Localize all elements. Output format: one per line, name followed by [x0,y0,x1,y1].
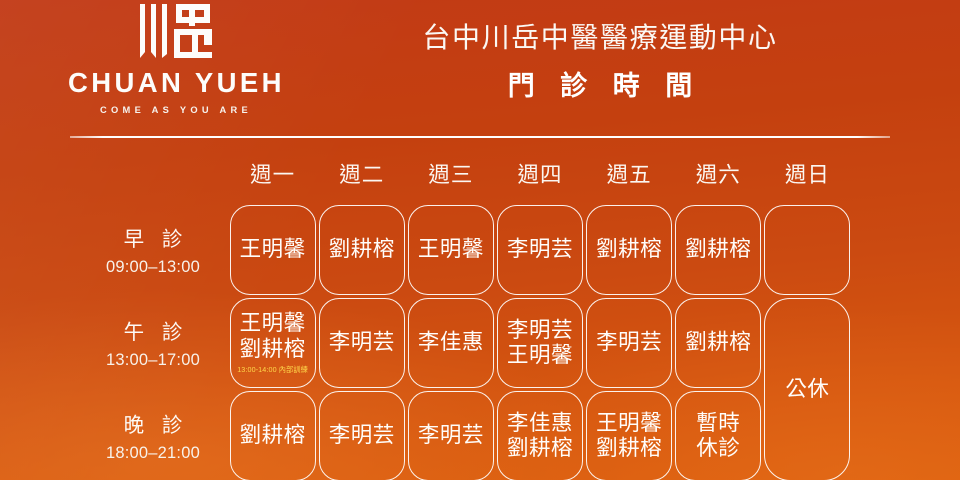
title-block: 台中川岳中醫醫療運動中心 門 診 時 間 [300,20,900,103]
cell-names: 王明馨 劉耕榕 [240,311,306,361]
cell-tue-afternoon[interactable]: 李明芸 [319,298,405,388]
day-header-friday: 週五 [585,154,674,196]
brand-logo: CHUAN YUEH COME AS YOU ARE [68,2,284,115]
cell-thu-morning[interactable]: 李明芸 [497,205,583,295]
cell-names: 李佳惠 劉耕榕 [507,411,573,461]
cell-names: 李明芸 [507,237,573,262]
cell-fri-evening[interactable]: 王明馨 劉耕榕 [586,391,672,480]
cell-names: 李明芸 王明馨 [507,318,573,368]
period-label-column: 早 診 09:00–13:00 午 診 13:00–17:00 晚 診 18:0… [86,205,220,480]
cell-names: 劉耕榕 [329,237,395,262]
cell-names: 王明馨 劉耕榕 [596,411,662,461]
schedule-grid: 早 診 09:00–13:00 午 診 13:00–17:00 晚 診 18:0… [0,205,960,480]
page-subtitle: 門 診 時 間 [300,64,900,103]
cell-mon-evening[interactable]: 劉耕榕 [230,391,316,480]
cell-fri-morning[interactable]: 劉耕榕 [586,205,672,295]
schedule-cells: 王明馨 劉耕榕 王明馨 李明芸 劉耕榕 劉耕榕 [228,205,852,480]
cell-names: 李明芸 [329,330,395,355]
cell-wed-morning[interactable]: 王明馨 [408,205,494,295]
day-header-saturday: 週六 [674,154,763,196]
cell-sun-morning-empty[interactable] [764,205,850,295]
day-header-sunday: 週日 [763,154,852,196]
period-morning-time: 09:00–13:00 [86,258,220,277]
cell-mon-morning[interactable]: 王明馨 [230,205,316,295]
cell-names: 劉耕榕 [685,237,751,262]
cell-names: 王明馨 [240,237,306,262]
cell-names: 劉耕榕 [596,237,662,262]
day-header-thursday: 週四 [495,154,584,196]
cell-names: 公休 [785,377,829,402]
cell-names: 李明芸 [329,423,395,448]
chuan-yueh-monogram-icon [68,2,284,65]
cell-sat-morning[interactable]: 劉耕榕 [675,205,761,295]
cell-sun-closed[interactable]: 公休 [764,298,850,480]
cell-thu-evening[interactable]: 李佳惠 劉耕榕 [497,391,583,480]
cell-names: 李明芸 [596,330,662,355]
period-evening: 晚 診 18:00–21:00 [86,415,220,463]
schedule-poster: CHUAN YUEH COME AS YOU ARE 台中川岳中醫醫療運動中心 … [0,0,960,480]
day-header-tuesday: 週二 [317,154,406,196]
cell-names: 暫時 休診 [696,411,740,461]
cell-names: 劉耕榕 [240,423,306,448]
cell-wed-evening[interactable]: 李明芸 [408,391,494,480]
period-evening-time: 18:00–21:00 [86,444,220,463]
cell-tue-evening[interactable]: 李明芸 [319,391,405,480]
day-header-monday: 週一 [228,154,317,196]
poster-header: CHUAN YUEH COME AS YOU ARE 台中川岳中醫醫療運動中心 … [0,0,960,137]
cell-fri-afternoon[interactable]: 李明芸 [586,298,672,388]
page-title: 台中川岳中醫醫療運動中心 [300,20,900,55]
period-afternoon: 午 診 13:00–17:00 [86,322,220,370]
schedule-table: 週一 週二 週三 週四 週五 週六 週日 早 診 09:00–13:00 午 診… [0,137,960,480]
cell-note-training: 13:00-14:00 內部訓練 [237,365,308,375]
day-header-row: 週一 週二 週三 週四 週五 週六 週日 [228,154,852,196]
day-header-wednesday: 週三 [406,154,495,196]
period-morning: 早 診 09:00–13:00 [86,229,220,277]
cell-wed-afternoon[interactable]: 李佳惠 [408,298,494,388]
period-morning-name: 早 診 [86,229,220,252]
cell-names: 李佳惠 [418,330,484,355]
cell-names: 劉耕榕 [685,330,751,355]
period-afternoon-time: 13:00–17:00 [86,351,220,370]
cell-tue-morning[interactable]: 劉耕榕 [319,205,405,295]
brand-tagline: COME AS YOU ARE [68,105,284,115]
period-afternoon-name: 午 診 [86,322,220,345]
cell-sat-afternoon[interactable]: 劉耕榕 [675,298,761,388]
period-evening-name: 晚 診 [86,415,220,438]
cell-mon-afternoon[interactable]: 王明馨 劉耕榕 13:00-14:00 內部訓練 [230,298,316,388]
cell-sat-evening[interactable]: 暫時 休診 [675,391,761,480]
cell-names: 李明芸 [418,423,484,448]
brand-name: CHUAN YUEH [68,69,284,97]
cell-thu-afternoon[interactable]: 李明芸 王明馨 [497,298,583,388]
cell-names: 王明馨 [418,237,484,262]
